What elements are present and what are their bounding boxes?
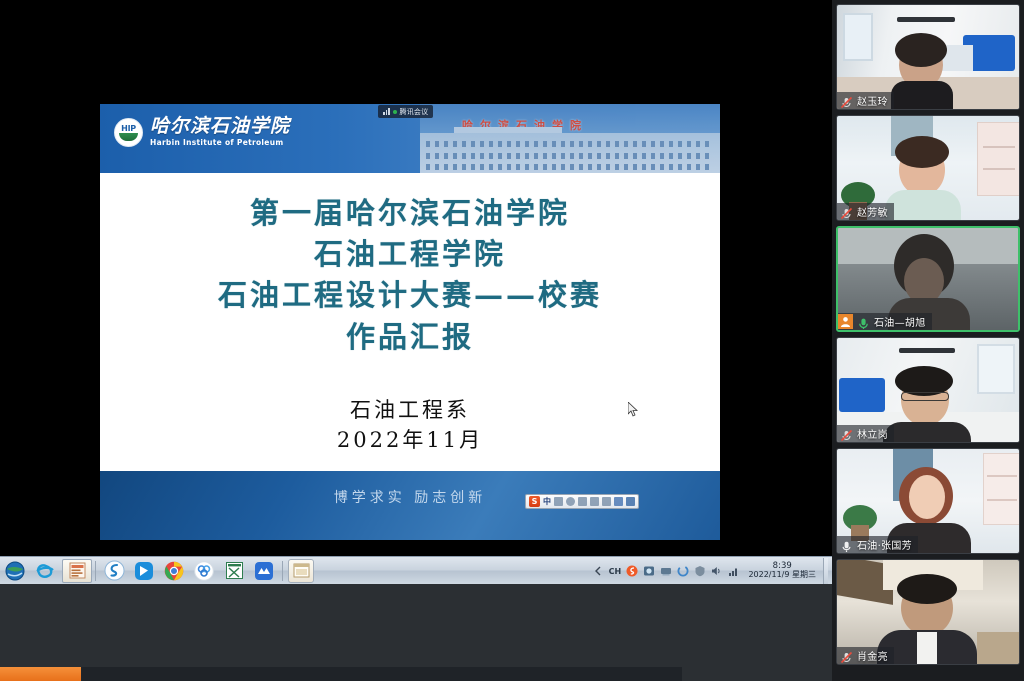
mic-muted-icon <box>840 649 853 662</box>
participant-tile[interactable]: 肖金亮 <box>836 559 1020 665</box>
punctuation-icon[interactable] <box>554 497 563 506</box>
meeting-chip-label: 腾讯会议 <box>400 107 429 117</box>
slide-header-banner: 哈尔滨石油学院 哈尔滨石油学院 Harbin Institute of Petr… <box>100 104 720 173</box>
mic-active-icon <box>857 315 870 328</box>
sogou-ime-toolbar[interactable]: S 中 <box>525 494 639 509</box>
signal-icon[interactable] <box>727 565 740 578</box>
emoji-icon[interactable] <box>566 497 575 506</box>
clock-date: 2022/11/9 星期三 <box>748 571 816 579</box>
taskbar-separator <box>95 561 96 581</box>
handwriting-icon[interactable] <box>602 497 611 506</box>
slide-subtitle: 石油工程系 2022年11月 <box>100 395 720 456</box>
dingtalk-icon[interactable] <box>131 559 157 583</box>
sogou-tray-icon[interactable] <box>625 565 638 578</box>
google-chrome-icon[interactable] <box>161 559 187 583</box>
participant-tile[interactable]: 赵芳敏 <box>836 115 1020 221</box>
volume-icon[interactable] <box>710 565 723 578</box>
participant-name: 赵芳敏 <box>857 204 888 219</box>
university-name-en: Harbin Institute of Petroleum <box>150 138 290 147</box>
participant-name: 石油—胡旭 <box>874 314 926 329</box>
participant-name: 肖金亮 <box>857 648 888 663</box>
baidu-netdisk-icon[interactable] <box>191 559 217 583</box>
university-seal-icon <box>114 118 143 147</box>
participant-tile[interactable]: 赵玉玲 <box>836 4 1020 110</box>
tencent-meeting-icon[interactable] <box>251 559 277 583</box>
sogou-browser-icon[interactable] <box>101 559 127 583</box>
voice-input-icon[interactable] <box>578 497 587 506</box>
excel-icon[interactable] <box>221 559 247 583</box>
building-window-row <box>426 153 714 159</box>
taskbar-clock[interactable]: 8:39 2022/11/9 星期三 <box>748 562 816 579</box>
slide-title: 第一届哈尔滨石油学院 石油工程学院 石油工程设计大赛——校赛 作品汇报 <box>100 193 720 358</box>
toolbox-icon[interactable] <box>614 497 623 506</box>
participant-name-tag: 肖金亮 <box>837 647 894 664</box>
building-window-row <box>426 164 714 170</box>
participant-tile[interactable]: 林立岗 <box>836 337 1020 443</box>
building-base <box>420 133 720 173</box>
signal-bars-icon <box>383 108 390 115</box>
show-desktop-button[interactable] <box>823 558 828 584</box>
taskbar-separator <box>282 561 283 581</box>
participant-name: 赵玉玲 <box>857 93 888 108</box>
slide-body: 第一届哈尔滨石油学院 石油工程学院 石油工程设计大赛——校赛 作品汇报 石油工程… <box>100 173 720 471</box>
internet-explorer-icon[interactable] <box>32 559 58 583</box>
meeting-screen: 哈尔滨石油学院 哈尔滨石油学院 Harbin Institute of Petr… <box>0 0 1024 681</box>
university-name-cn: 哈尔滨石油学院 <box>150 117 290 136</box>
avatar-icon <box>838 314 853 329</box>
quick-launch-area[interactable] <box>0 557 316 584</box>
participant-name-tag: 赵芳敏 <box>837 203 894 220</box>
participant-name: 石油·张国芳 <box>857 537 912 552</box>
show-desktop-icon[interactable] <box>2 559 28 583</box>
participant-tile[interactable]: 石油·张国芳 <box>836 448 1020 554</box>
safety-icon[interactable] <box>693 565 706 578</box>
building-window-row <box>426 141 714 147</box>
bottom-progress-bar[interactable] <box>0 667 82 681</box>
soft-keyboard-icon[interactable] <box>590 497 599 506</box>
chinese-mode-icon[interactable]: 中 <box>543 496 551 507</box>
participant-name-tag: 石油—胡旭 <box>838 313 932 330</box>
powerpoint-icon[interactable] <box>62 559 92 583</box>
sogou-logo-icon[interactable]: S <box>529 496 540 507</box>
presentation-slide[interactable]: 哈尔滨石油学院 哈尔滨石油学院 Harbin Institute of Petr… <box>100 104 720 540</box>
mic-icon <box>840 538 853 551</box>
mouse-cursor <box>628 402 638 417</box>
ime-status-icon[interactable]: CH <box>608 565 621 578</box>
mic-muted-icon <box>840 205 853 218</box>
participant-filmstrip[interactable]: 赵玉玲 赵芳敏 <box>832 0 1024 681</box>
participant-name-tag: 赵玉玲 <box>837 92 894 109</box>
participant-name: 林立岗 <box>857 426 888 441</box>
bottom-scroll-track[interactable] <box>82 667 682 681</box>
mic-muted-icon <box>840 94 853 107</box>
tencent-meeting-indicator: 腾讯会议 <box>378 105 433 118</box>
expand-tray-icon[interactable] <box>591 565 604 578</box>
screen-capture-icon[interactable] <box>642 565 655 578</box>
mic-muted-icon <box>840 427 853 440</box>
skin-icon[interactable] <box>626 497 635 506</box>
network-adapter-icon[interactable] <box>659 565 672 578</box>
shared-screen-area[interactable]: 哈尔滨石油学院 哈尔滨石油学院 Harbin Institute of Petr… <box>0 0 832 681</box>
participant-name-tag: 石油·张国芳 <box>837 536 918 553</box>
participant-tile-active-speaker[interactable]: 石油—胡旭 <box>836 226 1020 332</box>
recording-dot-icon <box>393 110 397 114</box>
sync-icon[interactable] <box>676 565 689 578</box>
explorer-window-icon[interactable] <box>288 559 314 583</box>
windows-taskbar[interactable]: CH <box>0 556 832 584</box>
campus-building-photo: 哈尔滨石油学院 <box>420 104 720 173</box>
system-tray[interactable]: CH <box>591 557 828 585</box>
university-logo: 哈尔滨石油学院 Harbin Institute of Petroleum <box>114 117 290 147</box>
participant-name-tag: 林立岗 <box>837 425 894 442</box>
